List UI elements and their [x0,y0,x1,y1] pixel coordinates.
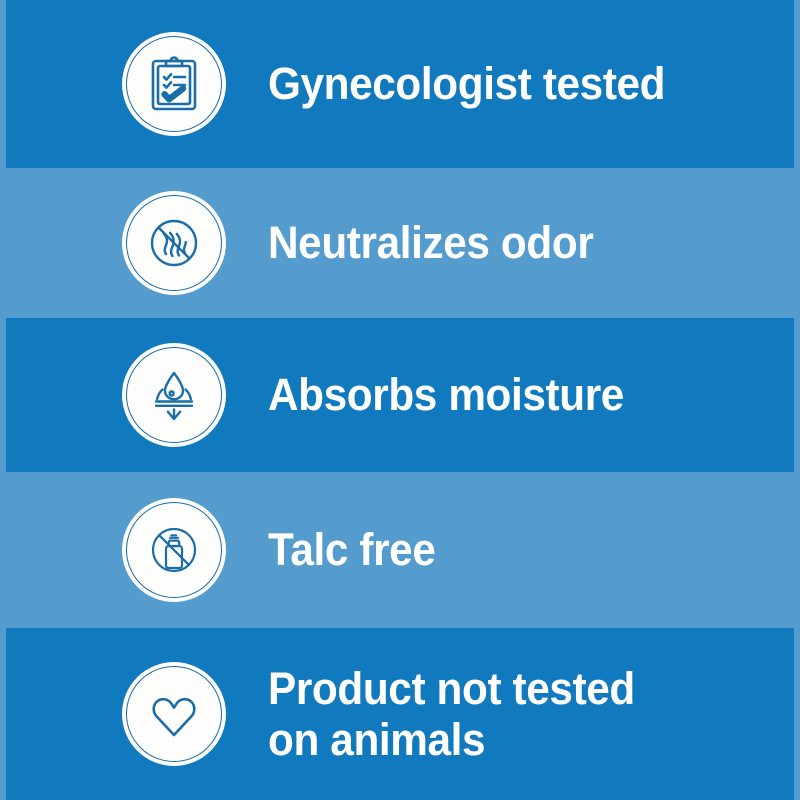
icon-circle [122,343,226,447]
benefit-band-not-tested-on-animals: Product not tested on animals [0,628,800,800]
no-talc-bottle-icon [142,518,206,582]
icon-badge [122,498,226,602]
clipboard-checklist-icon [142,52,206,116]
heart-icon [142,682,206,746]
band-content: Neutralizes odor [0,168,800,318]
icon-badge [122,32,226,136]
absorbs-moisture-droplet-icon [142,363,206,427]
benefit-label: Gynecologist tested [268,58,768,110]
icon-badge [122,662,226,766]
no-odor-icon [142,211,206,275]
band-content: Gynecologist tested [0,0,800,168]
benefit-band-talc-free: Talc free [0,472,800,628]
benefit-band-gynecologist-tested: Gynecologist tested [0,0,800,168]
icon-badge [122,343,226,447]
benefit-band-neutralizes-odor: Neutralizes odor [0,168,800,318]
band-content: Talc free [0,472,800,628]
icon-circle [122,32,226,136]
benefit-label: Absorbs moisture [268,369,768,421]
icon-circle [122,662,226,766]
benefit-label: Product not tested on animals [268,663,768,766]
benefit-badge-board: Gynecologist tested [0,0,800,800]
band-content: Absorbs moisture [0,318,800,472]
benefit-label: Neutralizes odor [268,217,768,269]
benefit-label: Talc free [268,524,768,576]
icon-circle [122,191,226,295]
icon-badge [122,191,226,295]
icon-circle [122,498,226,602]
benefit-band-absorbs-moisture: Absorbs moisture [0,318,800,472]
band-content: Product not tested on animals [0,628,800,800]
